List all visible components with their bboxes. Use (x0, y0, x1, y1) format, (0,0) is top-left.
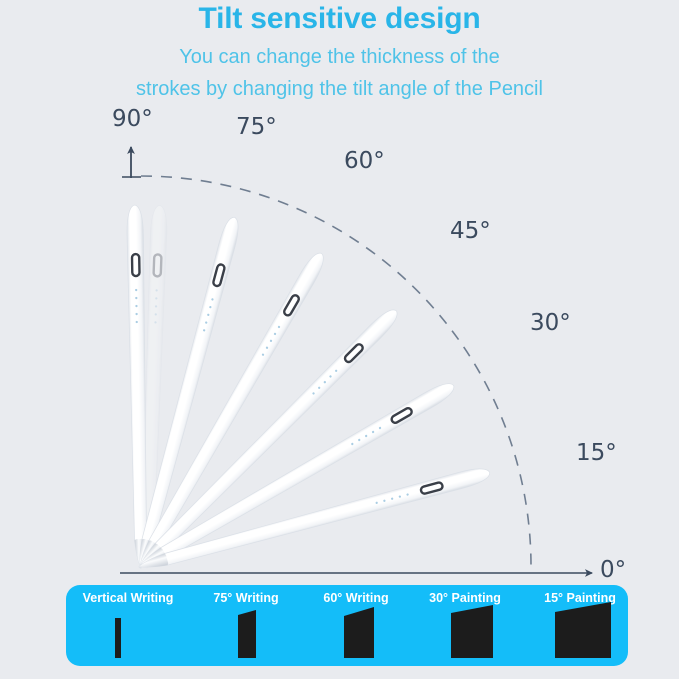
pencil-fan (126, 205, 491, 575)
stroke-swatch-30 (451, 605, 493, 658)
stroke-swatches (66, 585, 628, 666)
infographic-canvas: Tilt sensitive design You can change the… (0, 0, 679, 679)
stroke-swatch-60 (344, 607, 374, 658)
stroke-swatch-15 (555, 602, 611, 658)
stroke-swatch-vertical (115, 618, 121, 658)
stroke-swatch-75 (238, 610, 256, 658)
tilt-angle-diagram (0, 0, 679, 679)
stroke-legend-bar: Vertical Writing 75° Writing 60° Writing… (66, 585, 628, 666)
